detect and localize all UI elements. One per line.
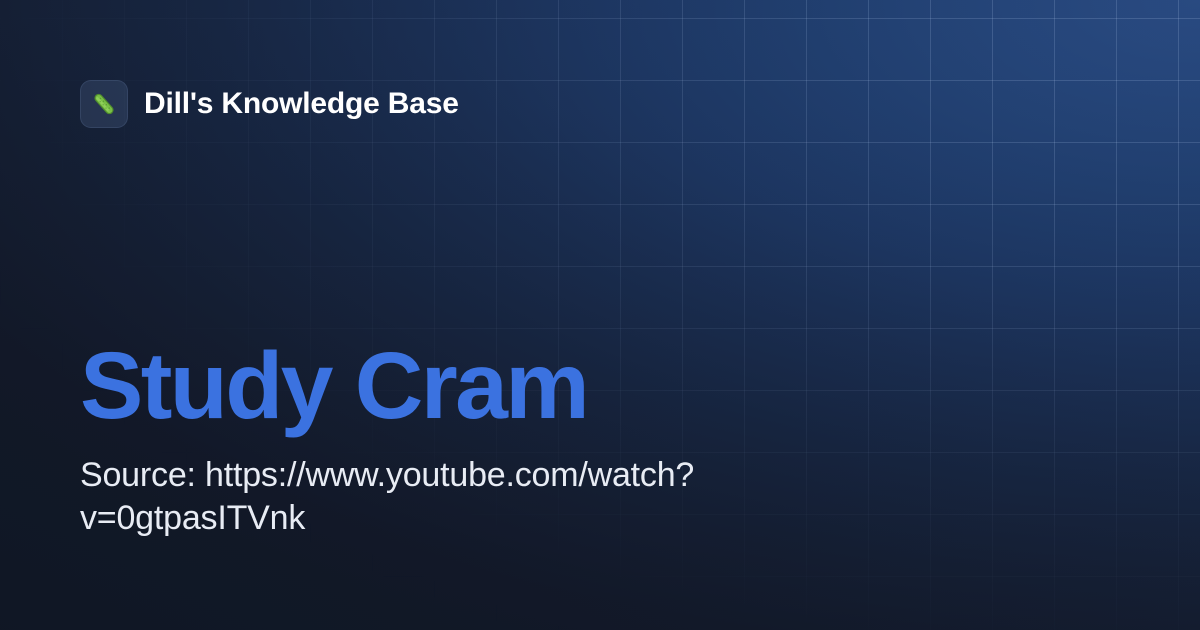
- headline-block: Study Cram Source: https://www.youtube.c…: [80, 338, 880, 541]
- brand-badge: [80, 80, 128, 128]
- brand-header: Dill's Knowledge Base: [80, 80, 459, 128]
- cucumber-icon: [89, 89, 119, 119]
- card-content: Dill's Knowledge Base Study Cram Source:…: [0, 0, 1200, 630]
- source-url-text: Source: https://www.youtube.com/watch?v=…: [80, 454, 840, 541]
- brand-title: Dill's Knowledge Base: [144, 89, 459, 119]
- og-card: Dill's Knowledge Base Study Cram Source:…: [0, 0, 1200, 630]
- page-title: Study Cram: [80, 338, 880, 435]
